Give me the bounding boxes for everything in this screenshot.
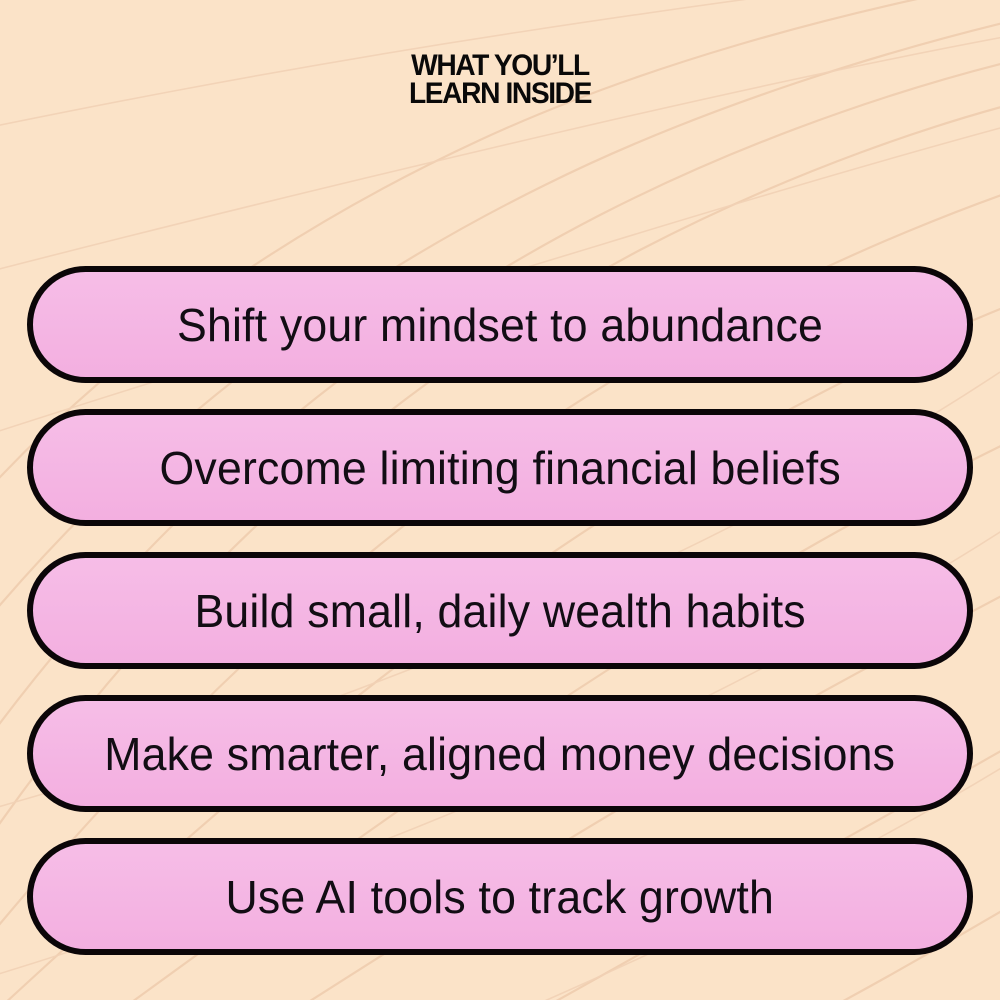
learning-points-list: Shift your mindset to abundance Overcome… (27, 266, 973, 955)
page-title: WHAT YOU’LL LEARN INSIDE (0, 52, 1000, 108)
list-item[interactable]: Build small, daily wealth habits (27, 552, 973, 669)
list-item[interactable]: Make smarter, aligned money decisions (27, 695, 973, 812)
list-item-label: Use AI tools to track growth (226, 874, 775, 920)
poster-canvas: WHAT YOU’LL LEARN INSIDE Shift your mind… (0, 0, 1000, 1000)
list-item-label: Overcome limiting financial beliefs (159, 445, 840, 491)
list-item[interactable]: Use AI tools to track growth (27, 838, 973, 955)
list-item[interactable]: Shift your mindset to abundance (27, 266, 973, 383)
list-item-label: Build small, daily wealth habits (194, 588, 805, 634)
page-title-line-2: LEARN INSIDE (30, 80, 970, 108)
list-item[interactable]: Overcome limiting financial beliefs (27, 409, 973, 526)
list-item-label: Make smarter, aligned money decisions (105, 731, 896, 777)
list-item-label: Shift your mindset to abundance (177, 302, 823, 348)
page-title-line-1: WHAT YOU’LL (30, 52, 970, 80)
